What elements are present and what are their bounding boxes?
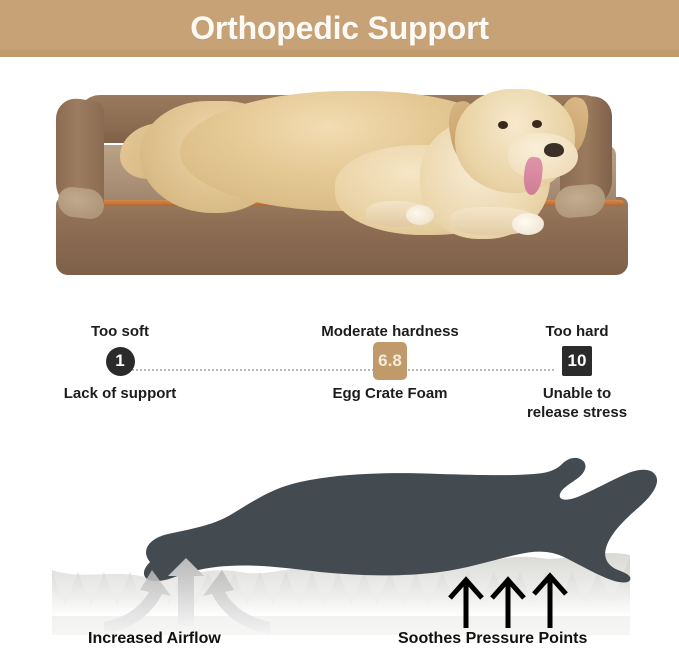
dog-muzzle <box>508 133 578 179</box>
foam-cross-section-diagram <box>0 430 679 654</box>
scale-marker-row-3: 10 <box>495 345 659 377</box>
page-title: Orthopedic Support <box>190 10 489 47</box>
infographic-page: Orthopedic Support <box>0 0 679 654</box>
golden-retriever <box>120 75 590 285</box>
dog-eye-right <box>532 120 542 128</box>
pressure-points-label: Soothes Pressure Points <box>398 630 587 648</box>
dog-nose <box>544 143 564 157</box>
scale-marker-2: 6.8 <box>373 342 407 380</box>
dog-eye-left <box>498 121 508 129</box>
scale-point-too-hard: Too hard 10 Unable to release stress <box>495 322 659 422</box>
product-photo <box>0 57 679 317</box>
pressure-arrows <box>450 576 566 628</box>
scale-bottom-label-3-line1: Unable to <box>495 384 659 403</box>
airflow-label: Increased Airflow <box>88 630 221 648</box>
header-banner: Orthopedic Support <box>0 0 679 57</box>
scale-top-label-2: Moderate hardness <box>298 322 482 341</box>
dog-paw-toes-left <box>406 205 434 225</box>
scale-top-label-1: Too soft <box>30 322 210 341</box>
dog-paw-toes-right <box>512 213 544 235</box>
dog-silhouette <box>144 458 657 583</box>
foam-diagram-svg <box>0 430 679 654</box>
hardness-scale: Too soft 1 Lack of support Moderate hard… <box>0 322 679 430</box>
banner-underline <box>0 50 679 57</box>
scale-point-moderate: Moderate hardness 6.8 Egg Crate Foam <box>298 322 482 403</box>
scale-bottom-label-2: Egg Crate Foam <box>298 384 482 403</box>
scale-top-label-3: Too hard <box>495 322 659 341</box>
scale-marker-1: 1 <box>106 347 135 376</box>
scale-point-too-soft: Too soft 1 Lack of support <box>30 322 210 403</box>
scale-marker-row-2: 6.8 <box>298 345 482 377</box>
scale-marker-row-1: 1 <box>30 345 210 377</box>
photo-stage <box>0 57 679 317</box>
scale-bottom-label-1: Lack of support <box>30 384 210 403</box>
scale-bottom-label-3-line2: release stress <box>495 403 659 422</box>
scale-marker-3: 10 <box>562 346 592 376</box>
